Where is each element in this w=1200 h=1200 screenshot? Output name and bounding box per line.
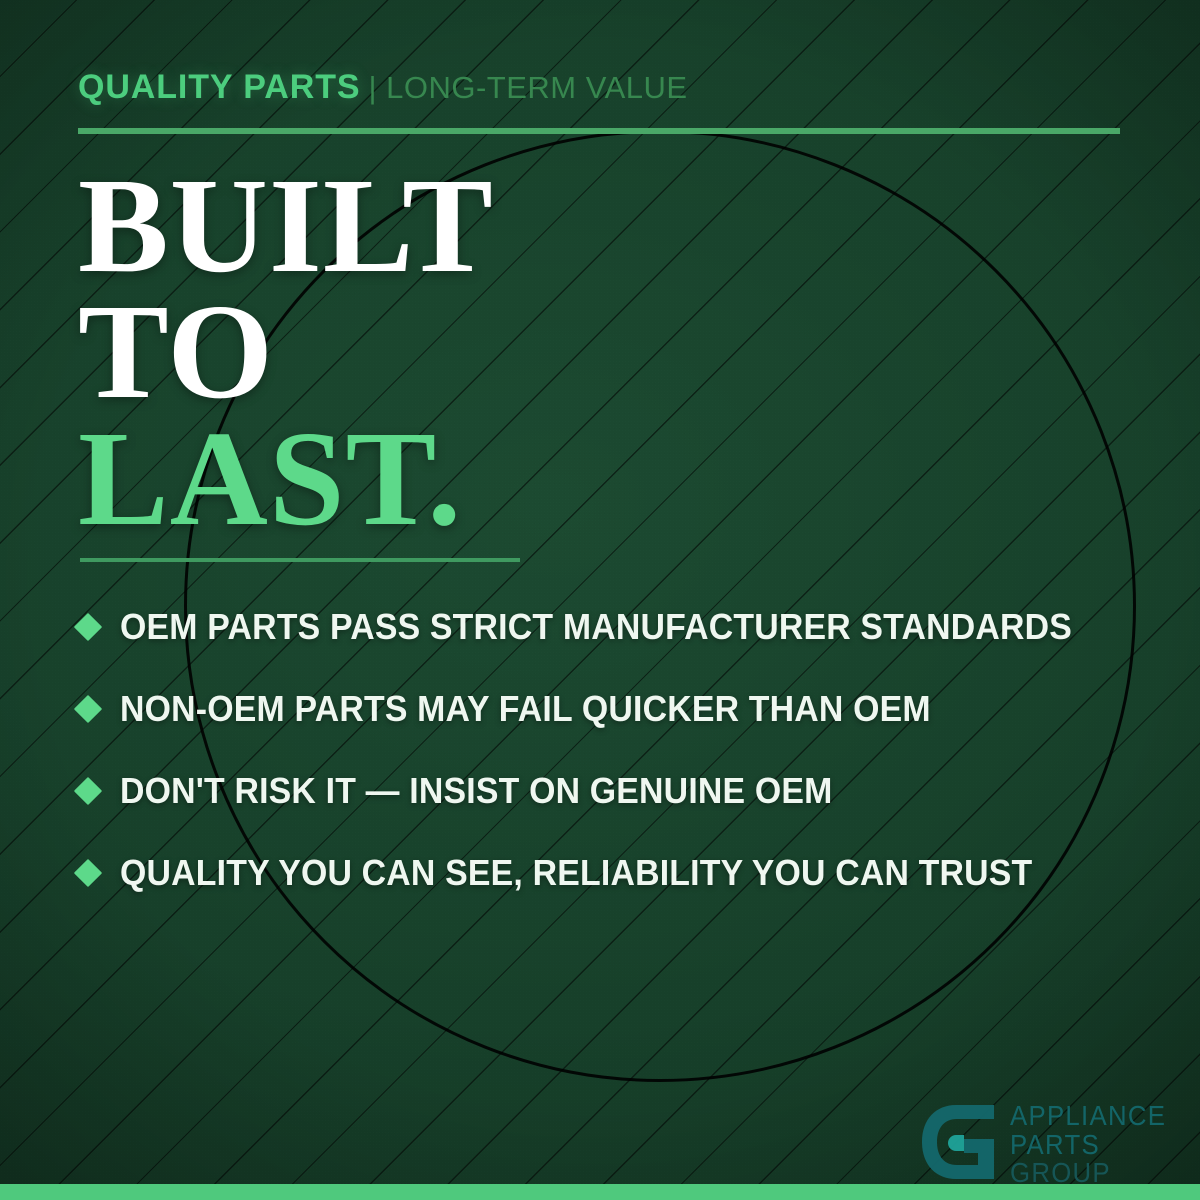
list-item: OEM PARTS PASS STRICT MANUFACTURER STAND… [78,586,1148,668]
benefits-list: OEM PARTS PASS STRICT MANUFACTURER STAND… [78,586,1148,914]
page-title: BUILT TO LAST. [78,163,494,542]
diamond-icon [74,777,102,805]
brand-logo: APPLIANCE PARTS GROUP [916,1099,1180,1188]
letter-g-mark-icon [916,1099,1000,1185]
list-item-label: NON-OEM PARTS MAY FAIL QUICKER THAN OEM [120,688,931,730]
header-divider-rule [78,128,1120,134]
bottom-accent-bar [0,1184,1200,1200]
poster-canvas: QUALITY PARTS| LONG-TERM VALUE BUILT TO … [0,0,1200,1200]
list-item: NON-OEM PARTS MAY FAIL QUICKER THAN OEM [78,668,1148,750]
eyebrow: QUALITY PARTS| LONG-TERM VALUE [78,70,688,104]
eyebrow-main-label: QUALITY PARTS [78,68,360,106]
brand-word-line-2: PARTS [1010,1131,1166,1160]
poster-content: QUALITY PARTS| LONG-TERM VALUE BUILT TO … [0,0,1200,1200]
headline-divider-rule [80,558,520,562]
list-item-label: QUALITY YOU CAN SEE, RELIABILITY YOU CAN… [120,852,1032,894]
brand-word-line-1: APPLIANCE [1010,1102,1166,1131]
headline-line-2: TO [78,289,494,415]
headline-line-1: BUILT [78,163,494,289]
diamond-icon [74,613,102,641]
eyebrow-sub-label: | LONG-TERM VALUE [368,70,687,105]
list-item-label: OEM PARTS PASS STRICT MANUFACTURER STAND… [120,606,1072,648]
list-item: QUALITY YOU CAN SEE, RELIABILITY YOU CAN… [78,832,1148,914]
brand-logo-wordmark: APPLIANCE PARTS GROUP [1010,1099,1166,1188]
headline-line-3: LAST. [78,416,494,542]
list-item-label: DON'T RISK IT — INSIST ON GENUINE OEM [120,770,833,812]
diamond-icon [74,859,102,887]
diamond-icon [74,695,102,723]
list-item: DON'T RISK IT — INSIST ON GENUINE OEM [78,750,1148,832]
